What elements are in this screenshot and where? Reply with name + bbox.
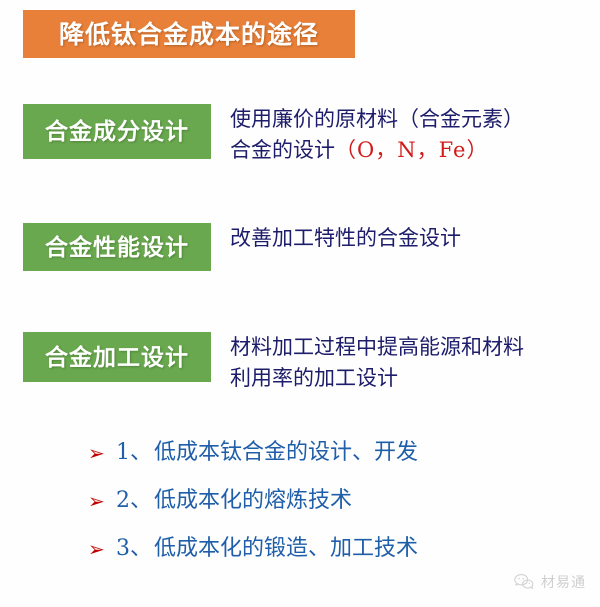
arrow-bullet-icon: ➢ — [88, 534, 116, 564]
arrow-bullet-icon: ➢ — [88, 438, 116, 468]
row-3-description: 材料加工过程中提高能源和材料 利用率的加工设计 — [230, 332, 595, 394]
bullet-list: ➢ 1、 低成本钛合金的设计、开发 ➢ 2、 低成本化的熔炼技术 ➢ 3、 低成… — [88, 438, 558, 582]
category-tag-alloy-processing-design: 合金加工设计 — [23, 332, 211, 382]
list-item-index: 1、 — [116, 438, 152, 468]
slide-canvas: 降低钛合金成本的途径 合金成分设计 使用廉价的原材料（合金元素） 合金的设计（O… — [0, 0, 600, 607]
wechat-logo-icon — [513, 571, 535, 593]
row-1-description: 使用廉价的原材料（合金元素） 合金的设计（O，N，Fe） — [230, 104, 595, 166]
arrow-bullet-icon: ➢ — [88, 486, 116, 516]
page-title: 降低钛合金成本的途径 — [59, 22, 319, 47]
row-2-line-1: 改善加工特性的合金设计 — [230, 223, 595, 254]
category-tag-alloy-property-design: 合金性能设计 — [23, 223, 211, 271]
category-tag-label: 合金性能设计 — [45, 236, 189, 259]
list-item: ➢ 2、 低成本化的熔炼技术 — [88, 486, 558, 516]
row-3-line-2: 利用率的加工设计 — [230, 363, 595, 394]
list-item-label: 低成本化的熔炼技术 — [154, 486, 352, 516]
list-item-label: 低成本钛合金的设计、开发 — [154, 438, 418, 468]
watermark: 材易通 — [513, 571, 586, 593]
row-2-description: 改善加工特性的合金设计 — [230, 223, 595, 254]
slide-title-banner: 降低钛合金成本的途径 — [23, 10, 355, 58]
list-item: ➢ 1、 低成本钛合金的设计、开发 — [88, 438, 558, 468]
watermark-label: 材易通 — [541, 572, 586, 592]
row-1-line-2-accent: （O，N，Fe） — [335, 138, 488, 162]
category-tag-alloy-composition-design: 合金成分设计 — [23, 104, 211, 159]
list-item-index: 3、 — [116, 534, 152, 564]
row-1-line-2-prefix: 合金的设计 — [230, 138, 335, 162]
row-3-line-1: 材料加工过程中提高能源和材料 — [230, 332, 595, 363]
list-item: ➢ 3、 低成本化的锻造、加工技术 — [88, 534, 558, 564]
category-tag-label: 合金加工设计 — [45, 346, 189, 369]
category-tag-label: 合金成分设计 — [45, 120, 189, 143]
list-item-label: 低成本化的锻造、加工技术 — [154, 534, 418, 564]
row-1-line-2: 合金的设计（O，N，Fe） — [230, 135, 595, 166]
row-1-line-1: 使用廉价的原材料（合金元素） — [230, 104, 595, 135]
list-item-index: 2、 — [116, 486, 152, 516]
